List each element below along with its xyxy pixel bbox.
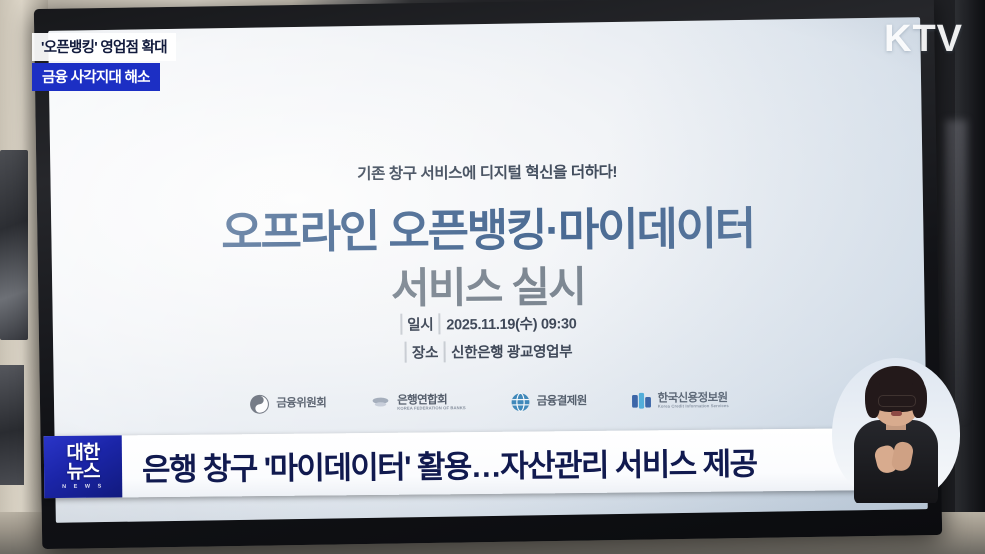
topic-line-primary: '오픈뱅킹' 영업점 확대 <box>32 33 176 61</box>
meta-label-datetime: 일시 <box>400 313 440 334</box>
logo-text-kftc: 금융결제원 <box>537 396 587 408</box>
logo-sub-kfb: KOREA FEDERATION OF BANKS <box>397 407 466 412</box>
slide-title-line-2: 서비스 실시 <box>52 251 924 319</box>
meta-value-location: 신한은행 광교영업부 <box>451 344 572 361</box>
logo-text-fsc: 금융위원회 <box>276 398 326 410</box>
room-equipment-upper <box>0 150 28 340</box>
lower-third-banner: 대한 뉴스 N E W S 은행 창구 '마이데이터' 활용…자산관리 서비스 … <box>44 428 911 498</box>
meta-label-location: 장소 <box>405 341 445 362</box>
broadcaster-watermark: KTV <box>884 18 963 61</box>
news-logo-line-2: 뉴스 <box>66 463 99 483</box>
taegeuk-emblem-icon <box>249 394 270 415</box>
logo-sub-kcis: Korea Credit Information Services <box>658 404 729 409</box>
news-logo-line-1: 대한 <box>66 444 99 463</box>
logo-item-kcis: 한국신용정보원 Korea Credit Information Service… <box>631 390 729 412</box>
slide-meta-row-location: 장소신한은행 광교영업부 <box>53 338 925 366</box>
bank-federation-icon <box>370 393 391 414</box>
slide-subtitle: 기존 창구 서비스에 디지털 혁신을 더하다! <box>51 158 923 187</box>
logo-item-kfb: 은행연합회 KOREA FEDERATION OF BANKS <box>370 392 466 414</box>
topic-line-secondary: 금융 사각지대 해소 <box>32 63 160 91</box>
cis-blocks-icon <box>631 391 652 412</box>
logo-name-fsc: 금융위원회 <box>276 398 326 410</box>
partner-logo-row: 금융위원회 은행연합회 KOREA FEDERATION OF BANKS <box>53 389 925 417</box>
slide-meta-block: 일시2025.11.19(수) 09:30 장소신한은행 광교영업부 <box>52 310 924 373</box>
logo-name-kftc: 금융결제원 <box>537 396 587 408</box>
logo-item-kftc: 금융결제원 <box>510 391 587 413</box>
news-logo-subtext: N E W S <box>62 484 104 490</box>
logo-text-kcis: 한국신용정보원 Korea Credit Information Service… <box>658 392 729 409</box>
news-headline: 은행 창구 '마이데이터' 활용…자산관리 서비스 제공 <box>122 428 911 498</box>
interpreter-glasses <box>878 395 916 407</box>
sign-language-interpreter-inset <box>832 358 960 503</box>
news-channel-logo: 대한 뉴스 N E W S <box>44 435 123 498</box>
interpreter-mouth <box>891 411 902 416</box>
logo-text-kfb: 은행연합회 KOREA FEDERATION OF BANKS <box>397 394 466 411</box>
meta-value-datetime: 2025.11.19(수) 09:30 <box>446 316 576 333</box>
room-equipment-lower <box>0 365 24 485</box>
broadcast-frame: 기존 창구 서비스에 디지털 혁신을 더하다! 오프라인 오픈뱅킹·마이데이터 … <box>0 0 985 554</box>
logo-item-fsc: 금융위원회 <box>249 393 326 415</box>
globe-icon <box>510 392 531 413</box>
topic-overlay: '오픈뱅킹' 영업점 확대 금융 사각지대 해소 <box>32 33 176 91</box>
